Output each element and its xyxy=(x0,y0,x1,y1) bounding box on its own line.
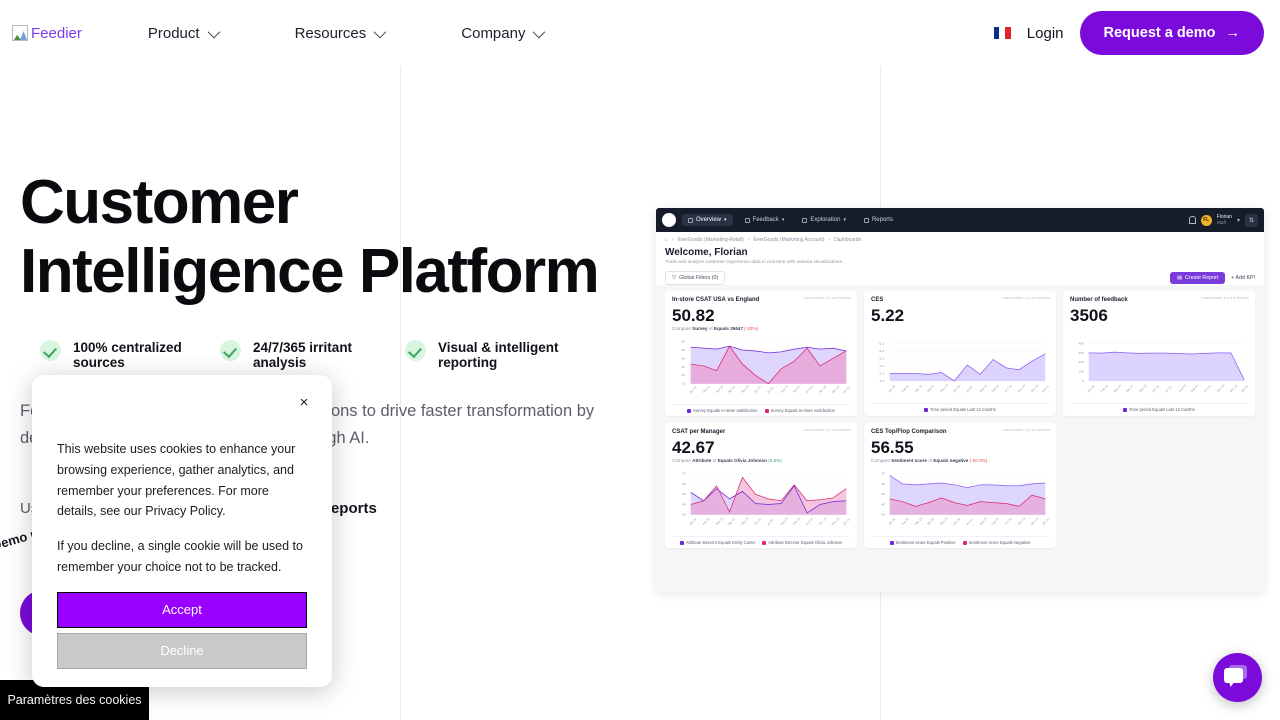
svg-text:70: 70 xyxy=(682,472,686,476)
legend-label: Sentiment score Equals Negative xyxy=(969,540,1031,545)
compare-dimension: Attribute xyxy=(692,458,711,463)
svg-text:30: 30 xyxy=(881,513,885,517)
grid-icon xyxy=(688,218,693,223)
chevron-down-icon xyxy=(374,25,387,38)
legend-label: Attribute Director Equals Emily Carter xyxy=(686,540,756,545)
svg-text:Apr 24: Apr 24 xyxy=(1125,384,1134,393)
svg-text:Sep 24: Sep 24 xyxy=(792,516,801,525)
kpi-card-chart: 706050 4030 Jan 24 Feb 24 Mar 24 Apr 24 … xyxy=(871,466,1049,533)
feature-label-line-1: 24/7/365 irritant xyxy=(253,340,352,355)
svg-text:Jan 25: Jan 25 xyxy=(842,385,850,395)
svg-text:Jul 24: Jul 24 xyxy=(766,518,775,527)
svg-text:0: 0 xyxy=(1082,379,1084,383)
svg-text:May 24: May 24 xyxy=(740,384,750,394)
compare-prefix: Compare xyxy=(871,458,891,463)
chevron-down-icon[interactable]: ▾ xyxy=(1237,217,1240,224)
chart-legend: Time period Equals Last 12 months xyxy=(1070,403,1248,412)
legend-item: Attribute Director Equals Olivia Johnson xyxy=(762,540,842,545)
chart-legend: Survey Equals In-store satisfaction Surv… xyxy=(672,404,850,413)
kpi-delta: (-20.3%) xyxy=(970,458,988,463)
compare-prefix: Compare xyxy=(672,326,692,331)
svg-text:Nov 24: Nov 24 xyxy=(1017,383,1027,393)
main-menu: Product Resources Company xyxy=(134,25,607,42)
svg-text:50: 50 xyxy=(681,348,685,352)
background-guide-line-left xyxy=(400,66,401,720)
svg-text:30: 30 xyxy=(682,513,686,517)
legend-item: Time period Equals Last 12 months xyxy=(924,407,996,412)
login-link[interactable]: Login xyxy=(1027,25,1064,42)
rotated-promo-line-1: Demo xyxy=(0,529,29,553)
dashboard-tab-overview-label: Overview xyxy=(696,217,721,223)
svg-text:Jul 24: Jul 24 xyxy=(965,385,974,394)
hero-feature-list: 100% centralized sources 24/7/365 irrita… xyxy=(40,340,640,370)
svg-text:60: 60 xyxy=(681,340,685,344)
cookie-paragraph-2: If you decline, a single cookie will be … xyxy=(57,536,307,578)
svg-text:Aug 24: Aug 24 xyxy=(779,384,789,394)
svg-text:Jul 24: Jul 24 xyxy=(965,518,974,527)
svg-text:Jan 24: Jan 24 xyxy=(688,385,698,395)
legend-item: Survey Equals In-store satisfaction xyxy=(765,408,835,413)
svg-text:Feb 24: Feb 24 xyxy=(702,385,711,394)
svg-text:Sep 24: Sep 24 xyxy=(991,383,1000,392)
bell-icon[interactable] xyxy=(1189,216,1196,224)
svg-text:Apr 24: Apr 24 xyxy=(727,517,736,526)
chat-icon xyxy=(745,218,750,223)
svg-text:60: 60 xyxy=(682,482,686,486)
kpi-card-value: 56.55 xyxy=(871,437,1049,458)
area-chart-svg: 706050 4030 Jan 24 Feb 24 Mar 24 Apr 24 … xyxy=(871,466,1049,528)
svg-text:May 24: May 24 xyxy=(939,383,949,393)
nav-item-company-label: Company xyxy=(461,25,525,42)
svg-text:Jan 25: Jan 25 xyxy=(1240,384,1248,394)
feature-label-line-2: sources xyxy=(73,355,125,370)
legend-label: Time period Equals Last 12 months xyxy=(930,407,996,412)
svg-text:Nov 24: Nov 24 xyxy=(1216,383,1226,393)
hero-title-line-2: Intelligence Platform xyxy=(20,237,598,306)
nav-item-resources[interactable]: Resources xyxy=(281,25,398,42)
svg-text:200: 200 xyxy=(1078,360,1084,364)
svg-text:Jun 24: Jun 24 xyxy=(1151,384,1161,394)
arrow-right-icon: → xyxy=(1226,25,1241,41)
dashboard-tab-exploration[interactable]: Exploration ▾ xyxy=(796,214,852,226)
svg-text:Mar 24: Mar 24 xyxy=(715,384,724,393)
legend-item: Time period Equals Last 12 months xyxy=(1123,407,1195,412)
svg-text:Jun 24: Jun 24 xyxy=(952,517,962,527)
compare-value: Equals Olivia Johnson xyxy=(718,458,767,463)
svg-text:Mar 24: Mar 24 xyxy=(914,383,923,392)
dashboard-logo-icon xyxy=(662,213,676,227)
legend-label: Survey Equals In-store satisfaction xyxy=(693,408,757,413)
check-circle-icon xyxy=(405,340,426,361)
page-title: Customer Intelligence Platform xyxy=(20,168,598,306)
document-icon xyxy=(864,218,869,223)
kpi-card-chart: 706050 4030 Jan 24 Feb 24 Mar 24 Apr 24 … xyxy=(672,466,850,533)
product-dashboard-screenshot: Overview ▾ Feedback ▾ Exploration ▾ Repo… xyxy=(656,208,1264,592)
kpi-delta: (-22%) xyxy=(744,326,758,331)
add-kpi-button[interactable]: + Add KPI xyxy=(1231,275,1255,281)
svg-text:Feb 24: Feb 24 xyxy=(901,384,910,393)
nav-item-product[interactable]: Product xyxy=(134,25,231,42)
check-circle-icon xyxy=(40,340,61,361)
dashboard-topbar: Overview ▾ Feedback ▾ Exploration ▾ Repo… xyxy=(656,208,1264,232)
feature-label-line-1: 100% centralized xyxy=(73,340,182,355)
area-chart-svg: 400300200 1000 Jan 24 Feb 24 Mar 24 Apr … xyxy=(1070,337,1248,395)
svg-text:300: 300 xyxy=(1078,351,1084,355)
svg-text:Dec 24: Dec 24 xyxy=(831,384,841,394)
search-icon xyxy=(802,218,807,223)
svg-text:5.6: 5.6 xyxy=(879,364,884,368)
dashboard-user-role: Staff xyxy=(1217,220,1232,226)
breadcrumb: ⌂› EverGoods (Marketing-Retail)› EverGoo… xyxy=(665,237,1255,243)
global-filters-label: Global Filters (0) xyxy=(679,275,718,281)
kpi-card-chart: 605040 302010 Jan 24 Feb 24 Mar 24 Apr 2… xyxy=(672,334,850,401)
request-demo-button[interactable]: Request a demo → xyxy=(1080,11,1265,55)
decline-cookies-button[interactable]: Decline xyxy=(57,633,307,669)
legend-item: Sentiment score Equals Positive xyxy=(890,540,956,545)
svg-text:40: 40 xyxy=(681,356,685,360)
avatar[interactable]: FL xyxy=(1201,215,1212,226)
chevron-down-icon xyxy=(533,25,546,38)
svg-text:5.2: 5.2 xyxy=(879,371,884,375)
svg-text:Feb 24: Feb 24 xyxy=(702,517,711,526)
kpi-card-compare: Compare Sentiment score of Equals negati… xyxy=(871,458,1049,463)
breadcrumb-item-2[interactable]: Dashboards xyxy=(834,237,861,243)
home-icon[interactable]: ⌂ xyxy=(665,237,668,243)
dashboard-tab-overview[interactable]: Overview ▾ xyxy=(682,214,733,226)
svg-text:Jun 24: Jun 24 xyxy=(753,517,763,527)
nav-item-product-label: Product xyxy=(148,25,200,42)
svg-text:Sep 24: Sep 24 xyxy=(792,384,801,393)
compare-dimension: Survey xyxy=(692,326,707,331)
document-icon: ▤ xyxy=(1177,275,1182,281)
svg-text:70: 70 xyxy=(881,472,885,476)
broken-image-icon xyxy=(12,25,28,41)
legend-label: Sentiment score Equals Positive xyxy=(896,540,956,545)
kpi-card[interactable]: Last refresh 4 y a 6 heures CES 5.22 6.2… xyxy=(864,291,1056,416)
settings-icon[interactable]: ⇅ xyxy=(1245,214,1258,227)
french-flag-icon[interactable] xyxy=(994,27,1011,39)
site-logo[interactable]: Feedier xyxy=(12,25,82,42)
dashboard-header-section: ⌂› EverGoods (Marketing-Retail)› EverGoo… xyxy=(656,232,1264,285)
svg-text:30: 30 xyxy=(681,365,685,369)
svg-text:Oct 24: Oct 24 xyxy=(1203,384,1212,393)
svg-text:Oct 24: Oct 24 xyxy=(805,517,814,526)
breadcrumb-item-0[interactable]: EverGoods (Marketing-Retail) xyxy=(678,237,744,243)
kpi-card[interactable]: Last refresh 4 y a 6 heures Number of fe… xyxy=(1063,291,1255,416)
kpi-card-chart: 6.26.05.8 5.65.24.8 Jan 24 Feb 24 Mar 24… xyxy=(871,337,1049,400)
svg-text:Oct 24: Oct 24 xyxy=(805,385,814,394)
svg-text:Jul 24: Jul 24 xyxy=(1164,385,1173,394)
kpi-card-compare: Compare Attribute of Equals Olivia Johns… xyxy=(672,458,850,463)
svg-text:Jan 25: Jan 25 xyxy=(842,517,850,527)
svg-text:May 24: May 24 xyxy=(740,516,750,526)
kpi-card-value: 50.82 xyxy=(672,305,850,326)
compare-prefix: Compare xyxy=(672,458,692,463)
svg-text:6.0: 6.0 xyxy=(879,349,884,353)
svg-text:Jan 25: Jan 25 xyxy=(1041,384,1049,394)
svg-text:Nov 24: Nov 24 xyxy=(1017,516,1027,526)
chevron-down-icon: ▾ xyxy=(782,217,785,223)
svg-text:Apr 24: Apr 24 xyxy=(926,384,935,393)
create-report-label: Create Report xyxy=(1185,275,1218,281)
svg-text:Apr 24: Apr 24 xyxy=(727,385,736,394)
svg-text:Jan 24: Jan 24 xyxy=(1086,384,1096,394)
svg-text:Sep 24: Sep 24 xyxy=(991,516,1000,525)
kpi-card-value: 3506 xyxy=(1070,305,1248,326)
svg-text:Jun 24: Jun 24 xyxy=(952,384,962,394)
legend-label: Attribute Director Equals Olivia Johnson xyxy=(768,540,842,545)
svg-text:Sep 24: Sep 24 xyxy=(1190,383,1199,392)
dashboard-tab-reports-label: Reports xyxy=(872,217,893,223)
chevron-down-icon xyxy=(207,25,220,38)
legend-item: Survey Equals In-store satisfaction xyxy=(687,408,757,413)
svg-text:Oct 24: Oct 24 xyxy=(1004,384,1013,393)
svg-text:20: 20 xyxy=(681,373,685,377)
svg-text:Mar 24: Mar 24 xyxy=(1113,383,1122,392)
chart-legend: Sentiment score Equals Positive Sentimen… xyxy=(871,536,1049,545)
legend-label: Survey Equals In-store satisfaction xyxy=(771,408,835,413)
legend-item: Attribute Director Equals Emily Carter xyxy=(680,540,756,545)
kpi-card[interactable]: Last refresh 4 y a 6 heures CSAT per Man… xyxy=(665,423,857,548)
dashboard-topbar-right: FL Florian Staff ▾ ⇅ xyxy=(1189,214,1258,227)
last-refresh-note: Last refresh 4 y a 6 heures xyxy=(1002,427,1050,432)
feature-label-line-1: Visual & intelligent xyxy=(438,340,559,355)
last-refresh-note: Last refresh 4 y a 6 heures xyxy=(803,295,851,300)
dashboard-tab-exploration-label: Exploration xyxy=(810,217,840,223)
svg-text:Dec 24: Dec 24 xyxy=(1229,383,1239,393)
compare-value: Equals 29647 xyxy=(714,326,743,331)
kpi-delta: (5.5%) xyxy=(768,458,782,463)
svg-text:Jan 25: Jan 25 xyxy=(1041,517,1049,527)
svg-text:10: 10 xyxy=(681,382,685,386)
feature-item-visual-reporting: Visual & intelligent reporting xyxy=(405,340,585,370)
area-chart-svg: 706050 4030 Jan 24 Feb 24 Mar 24 Apr 24 … xyxy=(672,466,850,528)
dashboard-action-buttons: ▤ Create Report + Add KPI xyxy=(1170,272,1255,284)
chat-widget-button[interactable] xyxy=(1213,653,1262,702)
kpi-card-compare: Compare Survey of Equals 29647 (-22%) xyxy=(672,326,850,331)
svg-text:5.8: 5.8 xyxy=(879,356,884,360)
kpi-card-chart: 400300200 1000 Jan 24 Feb 24 Mar 24 Apr … xyxy=(1070,337,1248,400)
last-refresh-note: Last refresh 4 y a 6 heures xyxy=(1201,295,1249,300)
kpi-card-value: 5.22 xyxy=(871,305,1049,326)
svg-text:40: 40 xyxy=(682,502,686,506)
svg-text:Jan 24: Jan 24 xyxy=(688,517,698,527)
nav-item-resources-label: Resources xyxy=(295,25,367,42)
kpi-card[interactable]: Last refresh 4 y a 6 heures In-store CSA… xyxy=(665,291,857,416)
check-circle-icon xyxy=(220,340,241,361)
svg-text:Mar 24: Mar 24 xyxy=(914,516,923,525)
accept-cookies-button[interactable]: Accept xyxy=(57,592,307,628)
chart-legend: Time period Equals Last 12 months xyxy=(871,403,1049,412)
svg-text:Aug 24: Aug 24 xyxy=(978,516,988,526)
svg-text:Feb 24: Feb 24 xyxy=(1100,384,1109,393)
last-refresh-note: Last refresh 4 y a 6 heures xyxy=(1002,295,1050,300)
svg-text:Dec 24: Dec 24 xyxy=(831,516,841,526)
svg-text:Apr 24: Apr 24 xyxy=(926,517,935,526)
nav-right-group: Login Request a demo → xyxy=(994,11,1280,55)
request-demo-label: Request a demo xyxy=(1104,25,1216,41)
svg-text:Mar 24: Mar 24 xyxy=(715,516,724,525)
cookie-paragraph-1: This website uses cookies to enhance you… xyxy=(57,439,307,522)
svg-text:Nov 24: Nov 24 xyxy=(818,384,828,394)
area-chart-svg: 6.26.05.8 5.65.24.8 Jan 24 Feb 24 Mar 24… xyxy=(871,337,1049,395)
compare-dimension: Sentiment score xyxy=(891,458,927,463)
logo-alt-text: Feedier xyxy=(31,25,82,42)
global-filters-button[interactable]: ▽ Global Filters (0) xyxy=(665,271,725,285)
create-report-button[interactable]: ▤ Create Report xyxy=(1170,272,1225,284)
svg-text:Feb 24: Feb 24 xyxy=(901,517,910,526)
filter-icon: ▽ xyxy=(672,275,676,281)
hero-title-line-1: Customer xyxy=(20,168,598,237)
feature-item-irritant-analysis: 24/7/365 irritant analysis xyxy=(220,340,405,370)
dashboard-tab-feedback-label: Feedback xyxy=(753,217,779,223)
kpi-card[interactable]: Last refresh 4 y a 6 heures CES Top/Flop… xyxy=(864,423,1056,548)
svg-text:Dec 24: Dec 24 xyxy=(1030,516,1040,526)
dashboard-user-name: Florian Staff xyxy=(1217,214,1232,226)
svg-text:Aug 24: Aug 24 xyxy=(1177,383,1187,393)
dashboard-tab-feedback[interactable]: Feedback ▾ xyxy=(739,214,791,226)
svg-text:60: 60 xyxy=(881,482,885,486)
svg-text:4.8: 4.8 xyxy=(879,379,884,383)
svg-text:Jan 24: Jan 24 xyxy=(887,517,897,527)
dashboard-action-row: ▽ Global Filters (0) ▤ Create Report + A… xyxy=(665,271,1255,285)
svg-text:Dec 24: Dec 24 xyxy=(1030,383,1040,393)
dashboard-welcome-subtitle: Track and analyze customer experience da… xyxy=(665,260,1255,265)
svg-text:400: 400 xyxy=(1078,341,1084,345)
chevron-down-icon: ▾ xyxy=(724,217,727,223)
kpi-card-value: 42.67 xyxy=(672,437,850,458)
svg-text:Aug 24: Aug 24 xyxy=(978,383,988,393)
svg-text:6.2: 6.2 xyxy=(879,341,884,345)
svg-text:Nov 24: Nov 24 xyxy=(818,516,828,526)
nav-item-company[interactable]: Company xyxy=(447,25,556,42)
svg-text:Oct 24: Oct 24 xyxy=(1004,517,1013,526)
feature-label-line-2: analysis xyxy=(253,355,306,370)
svg-text:May 24: May 24 xyxy=(939,516,949,526)
svg-text:Jun 24: Jun 24 xyxy=(753,385,763,395)
feature-label-line-2: reporting xyxy=(438,355,497,370)
dashboard-welcome-title: Welcome, Florian xyxy=(665,247,1255,258)
chart-legend: Attribute Director Equals Emily Carter A… xyxy=(672,536,850,545)
svg-text:40: 40 xyxy=(881,502,885,506)
svg-text:100: 100 xyxy=(1078,370,1084,374)
dashboard-tab-reports[interactable]: Reports xyxy=(858,214,899,226)
last-refresh-note: Last refresh 4 y a 6 heures xyxy=(803,427,851,432)
svg-text:May 24: May 24 xyxy=(1138,383,1148,393)
close-icon[interactable]: × xyxy=(296,395,312,411)
svg-text:50: 50 xyxy=(682,492,686,496)
legend-label: Time period Equals Last 12 months xyxy=(1129,407,1195,412)
cookie-consent-dialog: × This website uses cookies to enhance y… xyxy=(32,375,332,687)
breadcrumb-item-1[interactable]: EverGoods (Marketing Account) xyxy=(754,237,825,243)
dashboard-kpi-cards: Last refresh 4 y a 6 heures In-store CSA… xyxy=(656,285,1264,557)
compare-value: Equals negative xyxy=(933,458,968,463)
chat-bubble-icon-front xyxy=(1224,668,1243,683)
svg-text:Jan 24: Jan 24 xyxy=(887,384,897,394)
chevron-down-icon: ▾ xyxy=(843,217,846,223)
area-chart-svg: 605040 302010 Jan 24 Feb 24 Mar 24 Apr 2… xyxy=(672,334,850,396)
legend-item: Sentiment score Equals Negative xyxy=(963,540,1031,545)
feature-item-centralized-sources: 100% centralized sources xyxy=(40,340,220,370)
top-navigation-bar: Feedier Product Resources Company Login … xyxy=(0,0,1280,66)
svg-text:Aug 24: Aug 24 xyxy=(779,516,789,526)
svg-text:50: 50 xyxy=(881,492,885,496)
svg-text:Jul 24: Jul 24 xyxy=(766,386,775,395)
